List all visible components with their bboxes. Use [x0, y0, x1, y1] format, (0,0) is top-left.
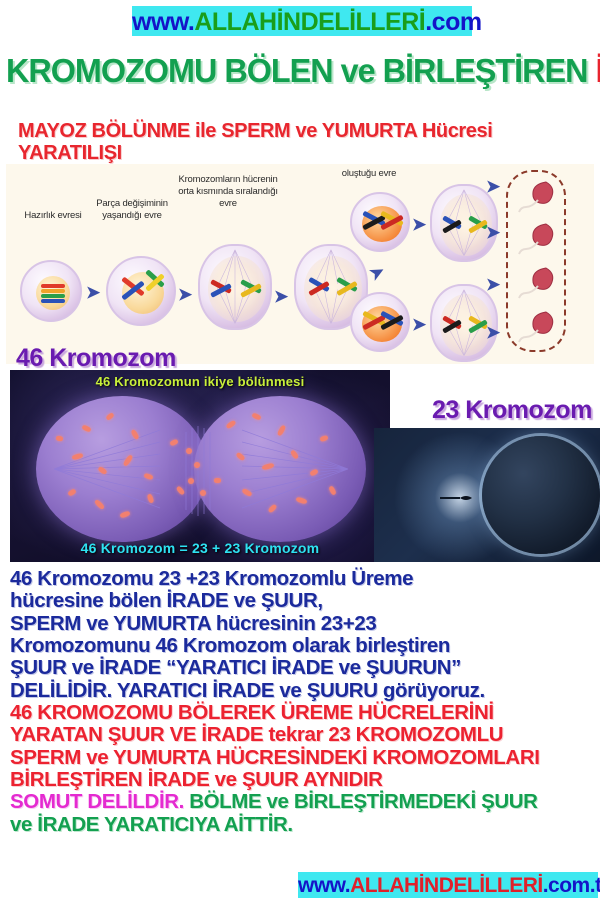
body-line-4: Kromozomunu 46 Kromozom olarak birleştir…: [10, 635, 598, 657]
sperm-cell-icon: [516, 306, 560, 346]
meiosis-stage-2-cell: [106, 256, 176, 326]
body-line-12: ve İRADE YARATICIYA AİTTİR.: [10, 814, 598, 836]
body-line-11-bolme: BÖLME ve BİRLEŞTİRMEDEKİ ŞUUR: [184, 790, 538, 813]
diagram-arrow-7: ➤: [412, 316, 426, 333]
spindle-fibers-icon: [10, 370, 390, 562]
header-website-url[interactable]: www.ALLAHİNDELİLLERİ.com: [132, 6, 472, 36]
sperm-cell-icon: [516, 176, 560, 216]
page-title-part1: KROMOZOMU BÖLEN ve BİRLEŞTİREN: [6, 52, 596, 89]
page-subtitle-line2: YARATILIŞI: [18, 142, 588, 164]
body-line-11: SOMUT DELİLDİR. BÖLME ve BİRLEŞTİRMEDEKİ…: [10, 791, 598, 813]
division-caption-top: 46 Kromozomun ikiye bölünmesi: [10, 374, 390, 389]
fertilization-image: [374, 428, 600, 562]
diagram-label-olustugu: oluştuğu evre: [326, 168, 412, 180]
diagram-arrow-3: ➤: [274, 288, 288, 305]
page-title: KROMOZOMU BÖLEN ve BİRLEŞTİREN İRADE: [6, 52, 594, 90]
footer-url-domain: ALLAHİNDELİLLERİ: [350, 874, 543, 897]
division-caption-bottom: 46 Kromozom = 23 + 23 Kromozom: [10, 540, 390, 556]
egg-cell: [482, 436, 600, 554]
diagram-arrow-6: ➤: [412, 216, 426, 233]
sperm-cell-icon: [516, 218, 560, 258]
label-23-kromozom: 23 Kromozom: [432, 396, 592, 425]
body-line-2: hücresine bölen İRADE ve ŞUUR,: [10, 590, 598, 612]
meiosis-stage-5-cell-upper: [350, 192, 410, 252]
sperm-cell-icon: [410, 490, 482, 506]
page-title-part2: İRADE: [596, 52, 600, 89]
sperm-cells-group: [506, 170, 566, 352]
sperm-cell-icon: [516, 262, 560, 302]
body-line-7: 46 KROMOZOMU BÖLEREK ÜREME HÜCRELERİNİ: [10, 702, 598, 724]
meiosis-stage-3-cell: [198, 244, 272, 330]
body-text-block: 46 Kromozomu 23 +23 Kromozomlu Üreme hüc…: [10, 568, 598, 836]
meiosis-stage-5-cell-lower: [350, 292, 410, 352]
footer-url-prefix: www.: [298, 874, 350, 897]
diagram-arrow-9: ➤: [486, 224, 500, 241]
footer-url-tld: .com.tr: [543, 874, 600, 897]
body-line-6: DELİLİDİR. YARATICI İRADE ve ŞUURU görüy…: [10, 680, 598, 702]
meiosis-stage-1-cell: [20, 260, 82, 322]
cell-division-image: 46 Kromozomun ikiye bölünmesi 46 Kromozo…: [10, 370, 390, 562]
diagram-arrow-2: ➤: [178, 286, 192, 303]
page-subtitle-line1: MAYOZ BÖLÜNME ile SPERM ve YUMURTA Hücre…: [18, 120, 588, 142]
diagram-label-parca: Parça değişiminin yaşandığı evre: [92, 198, 172, 222]
body-line-9: SPERM ve YUMURTA HÜCRESİNDEKİ KROMOZOMLA…: [10, 747, 598, 769]
meiosis-diagram: Hazırlık evresi Parça değişiminin yaşand…: [6, 164, 594, 364]
header-url-tld: .com: [425, 8, 481, 36]
header-url-prefix: www.: [132, 8, 194, 36]
body-line-3: SPERM ve YUMURTA hücresinin 23+23: [10, 613, 598, 635]
body-line-11-somut: SOMUT DELİLDİR.: [10, 790, 184, 813]
diagram-arrow-10: ➤: [486, 276, 500, 293]
header-url-domain: ALLAHİNDELİLLERİ: [194, 8, 425, 36]
label-46-kromozom: 46 Kromozom: [16, 344, 176, 373]
diagram-arrow-11: ➤: [486, 324, 500, 341]
body-line-10: BİRLEŞTİREN İRADE ve ŞUUR AYNIDIR: [10, 769, 598, 791]
diagram-arrow-4: ➤: [367, 262, 388, 284]
diagram-label-hazirlik: Hazırlık evresi: [20, 210, 86, 222]
footer-website-url[interactable]: www.ALLAHİNDELİLLERİ.com.tr: [298, 872, 598, 898]
body-line-1: 46 Kromozomu 23 +23 Kromozomlu Üreme: [10, 568, 598, 590]
nucleus: [36, 276, 70, 310]
body-line-8: YARATAN ŞUUR VE İRADE tekrar 23 KROMOZOM…: [10, 724, 598, 746]
page-subtitle: MAYOZ BÖLÜNME ile SPERM ve YUMURTA Hücre…: [18, 120, 588, 165]
diagram-arrow-8: ➤: [486, 178, 500, 195]
body-line-5: ŞUUR ve İRADE “YARATICI İRADE ve ŞUURUN”: [10, 657, 598, 679]
diagram-arrow-1: ➤: [86, 284, 100, 301]
poster-root: www.ALLAHİNDELİLLERİ.com KROMOZOMU BÖLEN…: [0, 0, 600, 900]
diagram-label-kromozomlarin: Kromozomların hücrenin orta kısmında sır…: [178, 174, 278, 210]
